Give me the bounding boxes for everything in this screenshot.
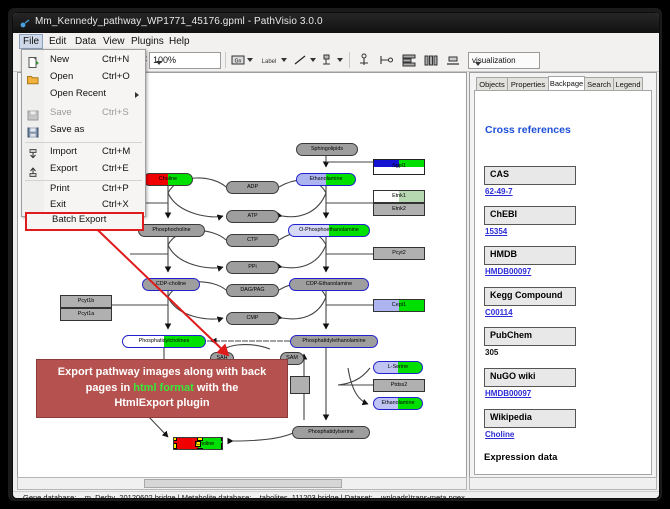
metabolite-node-ppi[interactable]: PPi (226, 261, 279, 274)
menu-item-new-accel: Ctrl+N (102, 54, 129, 65)
menu-item-open[interactable]: Open Ctrl+O (22, 70, 145, 85)
node-label: Phosphocholine (152, 228, 190, 234)
menu-item-print-accel: Ctrl+P (102, 183, 129, 194)
menu-item-export-label: Export (50, 163, 77, 174)
node-label: CTP (247, 238, 258, 244)
node-label: CDP-Ethanolamine (306, 282, 352, 288)
node-label: CDP-choline (156, 282, 186, 288)
menu-separator-1 (25, 142, 142, 143)
menu-item-import-label: Import (50, 146, 77, 157)
menu-item-print-label: Print (50, 183, 70, 194)
metabolite-node-ctp[interactable]: CTP (226, 234, 279, 247)
node-label: Pcyt1b (78, 299, 94, 305)
metabolite-node-adp[interactable]: ADP (226, 181, 279, 194)
selection-handle-6[interactable] (197, 448, 203, 450)
db-value-nugo[interactable]: HMDB00097 (485, 389, 531, 398)
menu-item-save-label: Save (50, 107, 72, 118)
metabolite-node-dagpag[interactable]: DAG/PAG (226, 284, 279, 297)
open-folder-icon (27, 72, 39, 83)
screenshot-root: Mm_Kennedy_pathway_WP1771_45176.gpml - P… (0, 0, 670, 509)
callout-line3: HtmlExport plugin (114, 397, 209, 409)
node-label: Phosphatidylcholines (139, 339, 190, 345)
node-label: O-Phosphoethanolamine (299, 228, 359, 234)
node-label: ADP (247, 185, 258, 191)
backpage-content[interactable]: Cross references CAS 62-49-7 ChEBI 15354… (474, 90, 652, 475)
callout-line2-a: pages in (86, 382, 134, 394)
menu-item-batch-export[interactable]: Batch Export (25, 212, 144, 231)
save-as-icon (27, 125, 39, 136)
callout-box: Export pathway images along with back pa… (36, 359, 288, 418)
menu-item-new[interactable]: New Ctrl+N (22, 53, 145, 68)
metabolite-node-sphingolipids[interactable]: Sphingolipids (296, 143, 358, 156)
metabolite-node-phosphatidylserine[interactable]: Phosphatidylserine (292, 426, 370, 439)
metabolite-node-phosphatidylcholines[interactable]: Phosphatidylcholines (122, 335, 206, 348)
db-label-pubchem: PubChem (484, 327, 576, 346)
selection-handle-5[interactable] (173, 448, 177, 450)
menu-item-save-accel: Ctrl+S (102, 107, 129, 118)
db-label-nugo: NuGO wiki (484, 368, 576, 387)
gene-product-tool-icon[interactable]: Gn (231, 52, 245, 68)
menu-help[interactable]: Help (165, 35, 194, 48)
menu-view[interactable]: View (99, 35, 129, 48)
selection-handle-0[interactable] (173, 437, 177, 441)
menu-item-save-as-label: Save as (50, 124, 84, 135)
node-label: Ptdss2 (391, 383, 407, 389)
svg-text:Label: Label (262, 59, 277, 65)
gene-node-pcyt1b[interactable]: Pcyt1b (60, 295, 112, 308)
node-label: CMP (247, 316, 259, 322)
save-icon (27, 108, 39, 119)
node-label: L-Serine (388, 365, 408, 371)
menu-item-batch-export-label: Batch Export (52, 214, 106, 225)
canvas-hscrollbar[interactable] (17, 477, 467, 490)
menu-edit[interactable]: Edit (45, 35, 70, 48)
callout-line2-b: with the (194, 382, 239, 394)
gene-node-pcyt2[interactable]: Pcyt2 (373, 247, 425, 260)
import-icon (27, 147, 39, 158)
node-label: Phosphatidylethanolamine (302, 339, 365, 345)
menu-item-exit[interactable]: Exit Ctrl+X (22, 198, 145, 213)
node-label: Pcyt1a (78, 312, 94, 318)
new-file-icon (27, 55, 39, 66)
node-label: Choline (159, 177, 177, 183)
selection-handle-2[interactable] (221, 437, 223, 441)
menu-item-export-accel: Ctrl+E (102, 163, 129, 174)
metabolite-node-phosphatidylethanolamine[interactable]: Phosphatidylethanolamine (290, 335, 378, 348)
window-title: Mm_Kennedy_pathway_WP1771_45176.gpml - P… (35, 16, 323, 27)
db-value-chebi[interactable]: 15354 (485, 227, 507, 236)
side-panel-hscrollbar[interactable] (469, 477, 657, 490)
menu-file[interactable]: File (19, 34, 43, 49)
gene-node-ptdss2[interactable]: Ptdss2 (373, 379, 425, 392)
zoom-combo[interactable]: 100% (149, 52, 221, 69)
gene-node-etnk1[interactable]: Etnk1 (373, 190, 425, 203)
menu-separator-2 (25, 180, 142, 181)
node-label: Pcyt2 (392, 251, 405, 257)
receptor-tool-icon[interactable] (321, 52, 335, 68)
menu-item-open-accel: Ctrl+O (102, 71, 130, 82)
metabolite-node-choline-top[interactable]: Choline (143, 173, 193, 186)
distribute-tool-icon[interactable] (423, 52, 439, 68)
menu-item-exit-accel: Ctrl+X (102, 199, 129, 210)
db-value-kegg[interactable]: C00114 (485, 308, 513, 317)
svg-text:Gn: Gn (235, 59, 242, 65)
selection-handle-7[interactable] (221, 448, 223, 450)
metabolite-node-choline-sel[interactable]: Choline (173, 437, 223, 450)
expression-data-heading: Expression data (484, 452, 557, 463)
db-value-wikipedia[interactable]: Choline (485, 430, 514, 439)
pathvisio-icon (19, 17, 31, 29)
align-tool-icon[interactable] (401, 52, 417, 68)
callout-text: Export pathway images along with back pa… (37, 365, 287, 412)
gene-node-sgpl1[interactable]: Sgpl1 (373, 159, 425, 175)
title-bar: Mm_Kennedy_pathway_WP1771_45176.gpml - P… (13, 13, 659, 34)
stack-tool-icon[interactable] (445, 52, 461, 68)
line-tool-icon[interactable] (293, 52, 307, 68)
menu-item-export[interactable]: Export Ctrl+E (22, 162, 145, 177)
db-label-chebi: ChEBI (484, 206, 576, 225)
db-label-wikipedia: Wikipedia (484, 409, 576, 428)
toolbar-separator-3 (349, 52, 350, 68)
side-panel: Objects Properties Backpage Search Legen… (469, 72, 657, 478)
application-window: Mm_Kennedy_pathway_WP1771_45176.gpml - P… (12, 12, 660, 499)
db-value-cas[interactable]: 62-49-7 (485, 187, 513, 196)
menu-item-save: Save Ctrl+S (22, 106, 145, 121)
gene-node-etnk2[interactable]: Etnk2 (373, 203, 425, 216)
status-text: Gene database: ...m_Derby_20120602.bridg… (23, 493, 465, 499)
db-label-cas: CAS (484, 166, 576, 185)
menu-item-print[interactable]: Print Ctrl+P (22, 182, 145, 197)
metabolite-node-o-phosphoethanolamine[interactable]: O-Phosphoethanolamine (288, 224, 370, 237)
menu-bar: File Edit Data View Plugins Help (13, 33, 659, 50)
callout-line2-highlight: html format (133, 382, 194, 394)
node-label: Etnk2 (392, 207, 406, 213)
toolbar-separator-2 (225, 52, 226, 68)
gene-node-cept1[interactable]: Cept1 (373, 299, 425, 312)
metabolite-node-ethanolamine-low[interactable]: Ethanolamine (373, 397, 423, 410)
label-tool-icon[interactable]: Label (259, 52, 279, 68)
metabolite-node-ethanolamine-top[interactable]: Ethanolamine (296, 173, 356, 186)
menu-item-exit-label: Exit (50, 199, 66, 210)
menu-item-open-recent-label: Open Recent (50, 88, 106, 99)
metabolite-node-phosphocholine[interactable]: Phosphocholine (138, 224, 205, 237)
menu-item-open-label: Open (50, 71, 73, 82)
node-label: Choline (195, 441, 201, 447)
node-label: DAG/PAG (240, 288, 264, 294)
menu-item-open-recent[interactable]: Open Recent (22, 87, 145, 102)
db-value-pubchem: 305 (485, 348, 498, 357)
menu-data[interactable]: Data (71, 35, 100, 48)
interaction-tool-icon[interactable] (379, 52, 395, 68)
anchor-tool-icon[interactable] (357, 52, 371, 68)
node-label: Ethanolamine (310, 177, 343, 183)
file-menu-dropdown: New Ctrl+N Open Ctrl+O Open Recent Save … (21, 49, 146, 217)
cross-references-heading: Cross references (485, 124, 571, 136)
node-label: Ethanolamine (382, 401, 415, 407)
db-value-hmdb[interactable]: HMDB00097 (485, 267, 531, 276)
menu-item-import[interactable]: Import Ctrl+M (22, 145, 145, 160)
reaction-node-box[interactable] (290, 376, 310, 394)
node-label: Etnk1 (392, 194, 406, 200)
submenu-arrow-icon (135, 92, 139, 98)
node-label: ATP (247, 214, 257, 220)
metabolite-node-cmp[interactable]: CMP (226, 312, 279, 325)
metabolite-node-atp[interactable]: ATP (226, 210, 279, 223)
db-label-hmdb: HMDB (484, 246, 576, 265)
menu-item-new-label: New (50, 54, 69, 65)
metabolite-node-cdp-choline[interactable]: CDP-choline (142, 278, 200, 291)
menu-item-import-accel: Ctrl+M (102, 146, 130, 157)
menu-item-save-as[interactable]: Save as (22, 123, 145, 138)
side-panel-tabs: Objects Properties Backpage Search Legen… (474, 76, 652, 90)
db-label-kegg: Kegg Compound (484, 287, 576, 306)
metabolite-node-cdp-ethanolamine[interactable]: CDP-Ethanolamine (289, 278, 369, 291)
visualization-combo[interactable]: visualization (468, 52, 540, 69)
node-label: Phosphatidylserine (308, 430, 354, 436)
menu-plugins[interactable]: Plugins (127, 35, 168, 48)
node-label: Sphingolipids (311, 147, 343, 153)
callout-line1: Export pathway images along with back (58, 366, 266, 378)
selection-handle-1[interactable] (197, 437, 203, 441)
metabolite-node-l-serine[interactable]: L-Serine (373, 361, 423, 374)
canvas-hscroll-thumb[interactable] (144, 479, 342, 488)
node-label: Cept1 (392, 303, 406, 309)
status-bar: Gene database: ...m_Derby_20120602.bridg… (13, 491, 659, 499)
gene-node-pcyt1a[interactable]: Pcyt1a (60, 308, 112, 321)
node-label: PPi (248, 265, 256, 271)
export-icon (27, 164, 39, 175)
node-label: Sgpl1 (392, 164, 406, 170)
